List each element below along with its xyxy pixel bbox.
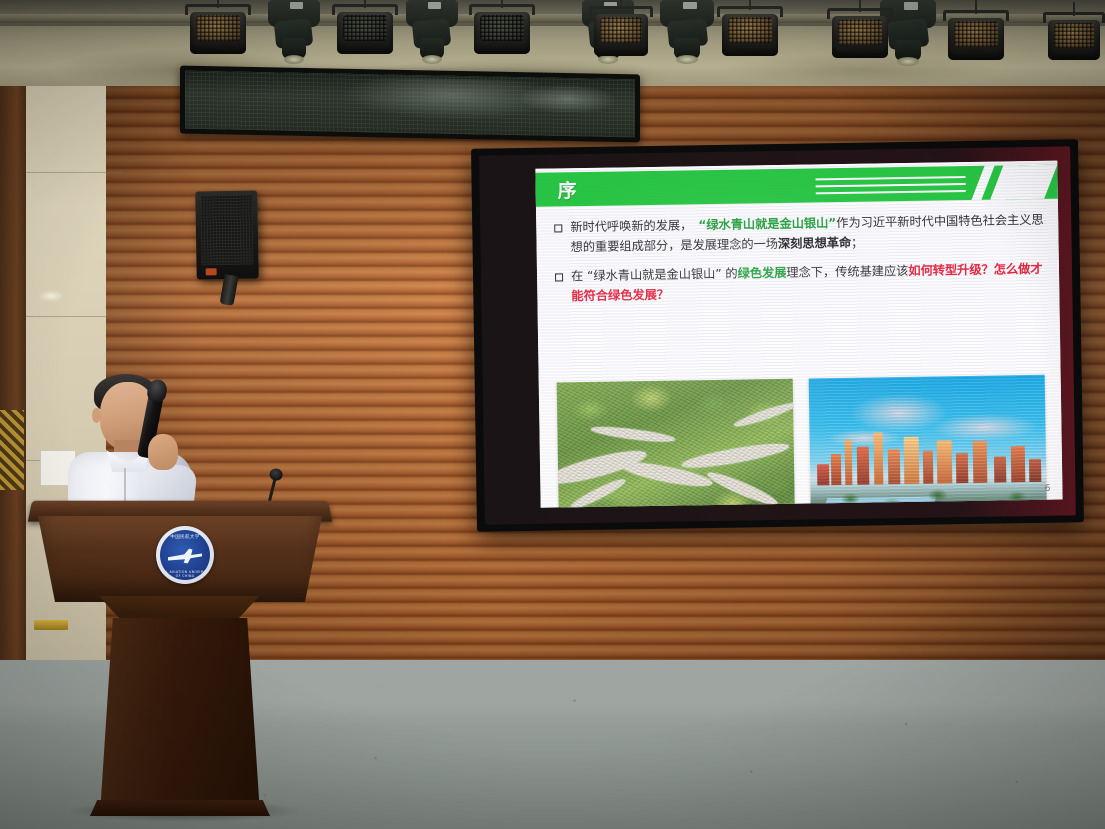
banner-slash-decoration: [827, 165, 1058, 203]
bullet-seg: 理念下，传统基建应该: [786, 264, 908, 280]
bullet-item: 在 “绿水青山就是金山银山” 的绿色发展理念下，传统基建应该如何转型升级？怎么做…: [555, 260, 1046, 308]
moving-head-light-icon: [406, 0, 458, 58]
slide-title-banner: 序: [535, 165, 1057, 207]
slide-page-number: 6: [1045, 484, 1051, 494]
slide-image-row: [557, 375, 1048, 508]
screen-bezel: 序: [479, 146, 1076, 524]
par-light-icon: [1048, 14, 1100, 54]
bullet-seg: ；: [851, 236, 863, 250]
emblem-text-top: 中国民航大学: [156, 534, 214, 540]
bullet-seg-green: 绿色发展: [737, 266, 786, 281]
wall-light-reflection: [38, 290, 64, 302]
bullet-square-icon: [555, 273, 563, 281]
moving-head-light-icon: [268, 0, 320, 58]
wall-mounted-loudspeaker: [195, 190, 259, 279]
university-emblem-icon: 中国民航大学 CIVIL AVIATION UNIVERSITY OF CHIN…: [156, 526, 214, 584]
par-light-icon: [337, 6, 393, 48]
bullet-seg: 在 “绿水青山就是金山银山” 的: [571, 266, 738, 283]
bullet-square-icon: [554, 224, 562, 232]
presentation-slide: 序: [535, 161, 1062, 508]
slide-title: 序: [557, 176, 577, 203]
bullet-item: 新时代呼唤新的发展， “绿水青山就是金山银山”作为习近平新时代中国特色社会主义思…: [554, 211, 1045, 259]
wall-vent-grate: [0, 410, 24, 490]
par-light-icon: [594, 8, 648, 50]
aerial-park-photo: [557, 379, 796, 508]
bullet-text: 新时代呼唤新的发展， “绿水青山就是金山银山”作为习近平新时代中国特色社会主义思…: [570, 211, 1045, 258]
projection-screen[interactable]: 序: [471, 139, 1084, 531]
bullet-seg-green: “绿水青山就是金山银山”: [698, 216, 836, 232]
par-light-icon: [190, 6, 246, 48]
moving-head-light-icon: [660, 0, 714, 58]
lectern-podium: 中国民航大学 CIVIL AVIATION UNIVERSITY OF CHIN…: [30, 500, 330, 829]
conference-hall-scene: 序: [0, 0, 1105, 829]
bullet-seg: 新时代呼唤新的发展，: [570, 218, 698, 234]
par-light-icon: [722, 8, 778, 50]
presenter-ear: [92, 408, 101, 423]
bullet-seg-bold: 深刻思想革命: [778, 236, 851, 251]
city-skyline-photo: [809, 375, 1048, 508]
led-display-banner: [180, 66, 640, 143]
par-light-icon: [948, 12, 1004, 54]
presenter-hand: [148, 434, 178, 470]
par-light-icon: [832, 10, 888, 52]
podium-front-panel: 中国民航大学 CIVIL AVIATION UNIVERSITY OF CHIN…: [38, 516, 322, 602]
emblem-text-bottom: CIVIL AVIATION UNIVERSITY OF CHINA: [156, 570, 214, 578]
slide-body: 新时代呼唤新的发展， “绿水青山就是金山银山”作为习近平新时代中国特色社会主义思…: [536, 205, 1063, 508]
lighting-truss-bar: [0, 14, 1105, 23]
podium-plinth: [90, 800, 270, 816]
bullet-text: 在 “绿水青山就是金山银山” 的绿色发展理念下，传统基建应该如何转型升级？怎么做…: [571, 260, 1046, 307]
podium-base: [100, 618, 260, 814]
par-light-icon: [474, 6, 530, 48]
screen-display-area: 序: [535, 161, 1062, 508]
